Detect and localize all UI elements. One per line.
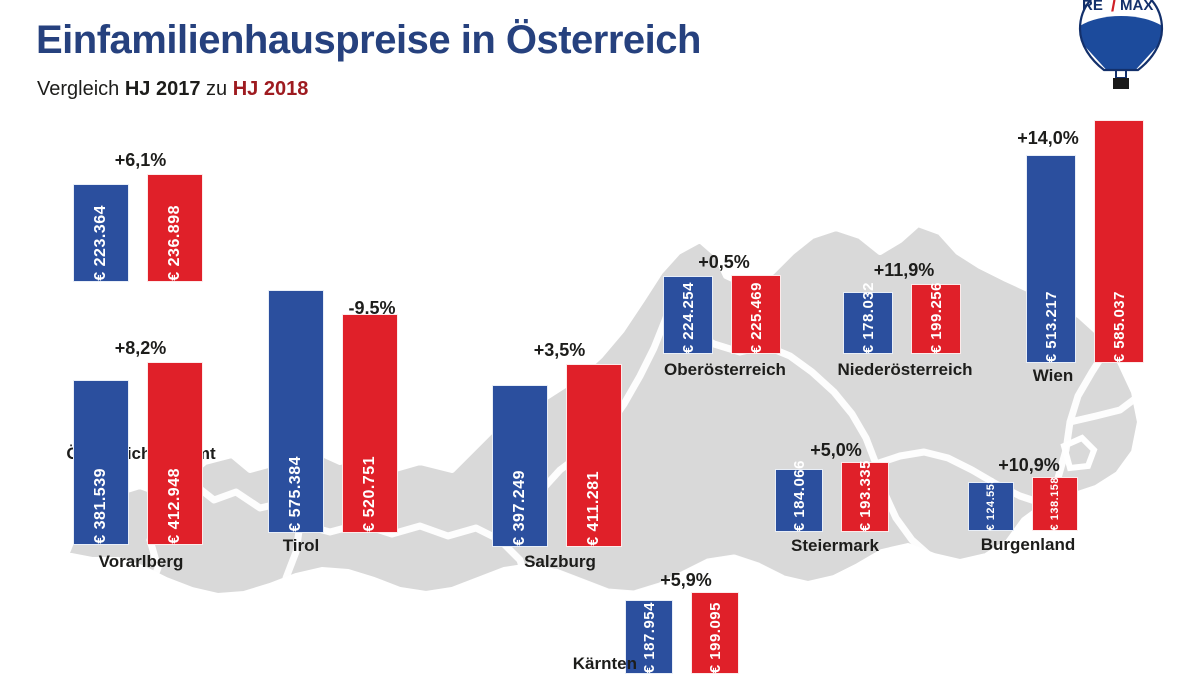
logo-text-slash: / xyxy=(1111,0,1117,16)
bar-2017-tirol[interactable]: € 575.384 xyxy=(268,290,324,533)
subtitle-lead: Vergleich xyxy=(37,78,125,100)
bar-value-2018-steiermark: € 193.335 xyxy=(858,453,873,531)
bar-value-2017-salzburg: € 397.249 xyxy=(512,463,528,546)
bar-2017-vorarlberg[interactable]: € 381.539 xyxy=(73,380,129,545)
bar-value-2017-wien: € 513.217 xyxy=(1044,284,1059,362)
bar-2018-niederoesterreich[interactable]: € 199.256 xyxy=(911,284,961,354)
bar-value-2017-niederoesterreich: € 178.032 xyxy=(861,275,876,353)
group-label-wien: Wien xyxy=(1018,366,1088,386)
bar-value-2018-wien: € 585.037 xyxy=(1112,284,1127,362)
bar-group-oesterreich-gesamt[interactable]: +6,1% € 223.364 € 236.898 Österreich ges… xyxy=(73,150,208,282)
bar-2018-tirol[interactable]: € 520.751 xyxy=(342,314,398,533)
bar-2017-steiermark[interactable]: € 184.066 xyxy=(775,469,823,532)
change-pct-salzburg: +3,5% xyxy=(492,340,627,361)
group-label-steiermark: Steiermark xyxy=(765,536,905,556)
bar-value-2017-steiermark: € 184.066 xyxy=(792,453,807,531)
bar-2017-wien[interactable]: € 513.217 xyxy=(1026,155,1076,363)
bar-value-2018-burgenland: € 138.158 xyxy=(1050,472,1061,530)
logo-text-re: RE xyxy=(1082,0,1103,14)
bar-value-2017-burgenland: € 124.558 xyxy=(986,472,997,530)
change-pct-oberoesterreich: +0,5% xyxy=(663,252,785,273)
group-label-vorarlberg: Vorarlberg xyxy=(55,552,227,572)
bar-2017-oberoesterreich[interactable]: € 224.254 xyxy=(663,276,713,354)
bar-group-vorarlberg[interactable]: +8,2% € 381.539 € 412.948 Vorarlberg xyxy=(73,338,208,545)
bar-2018-oesterreich-gesamt[interactable]: € 236.898 xyxy=(147,174,203,282)
bar-2018-steiermark[interactable]: € 193.335 xyxy=(841,462,889,532)
bar-value-2017-vorarlberg: € 381.539 xyxy=(93,461,109,544)
bar-value-2018-tirol: € 520.751 xyxy=(362,449,378,532)
bar-2018-kaernten[interactable]: € 199.095 xyxy=(691,592,739,674)
bar-value-2018-niederoesterreich: € 199.256 xyxy=(929,275,944,353)
group-label-kaernten: Kärnten xyxy=(527,654,637,674)
bar-value-2017-kaernten: € 187.954 xyxy=(642,595,657,673)
change-pct-oesterreich-gesamt: +6,1% xyxy=(73,150,208,171)
bar-2018-burgenland[interactable]: € 138.158 xyxy=(1032,477,1078,531)
group-label-salzburg: Salzburg xyxy=(484,552,636,572)
group-label-tirol: Tirol xyxy=(266,536,336,556)
change-pct-vorarlberg: +8,2% xyxy=(73,338,208,359)
bar-value-2018-vorarlberg: € 412.948 xyxy=(167,461,183,544)
bar-group-burgenland[interactable]: +10,9% € 124.558 € 138.158 Burgenland xyxy=(968,455,1090,531)
bar-group-wien[interactable]: +14,0% € 513.217 € 585.037 Wien xyxy=(1026,120,1148,363)
austria-map xyxy=(0,0,1200,674)
subtitle-mid: zu xyxy=(200,78,232,100)
bar-group-niederoesterreich[interactable]: +11,9% € 178.032 € 199.256 Niederösterre… xyxy=(843,260,965,354)
group-label-burgenland: Burgenland xyxy=(960,535,1096,555)
group-label-oberoesterreich: Oberösterreich xyxy=(649,360,801,380)
bar-2017-niederoesterreich[interactable]: € 178.032 xyxy=(843,292,893,354)
bar-group-tirol[interactable]: -9,5% € 575.384 € 520.751 Tirol xyxy=(268,290,403,533)
change-pct-kaernten: +5,9% xyxy=(625,570,747,591)
bar-2018-vorarlberg[interactable]: € 412.948 xyxy=(147,362,203,545)
infographic-canvas: Einfamilienhauspreise in Österreich Verg… xyxy=(0,0,1200,674)
bar-value-2017-oberoesterreich: € 224.254 xyxy=(681,275,696,353)
group-label-niederoesterreich: Niederösterreich xyxy=(821,360,989,380)
page-title: Einfamilienhauspreise in Österreich xyxy=(36,18,701,63)
legend-hj2017: HJ 2017 xyxy=(125,78,201,100)
bar-value-2017-oesterreich-gesamt: € 223.364 xyxy=(93,198,109,281)
bar-group-oberoesterreich[interactable]: +0,5% € 224.254 € 225.469 Oberösterreich xyxy=(663,252,785,354)
bar-2017-oesterreich-gesamt[interactable]: € 223.364 xyxy=(73,184,129,282)
bar-value-2018-oberoesterreich: € 225.469 xyxy=(749,275,764,353)
bar-group-salzburg[interactable]: +3,5% € 397.249 € 411.281 Salzburg xyxy=(492,340,627,547)
remax-balloon-logo[interactable]: RE / MAX xyxy=(1058,0,1184,112)
logo-text-max: MAX xyxy=(1120,0,1153,14)
bar-group-kaernten[interactable]: +5,9% € 187.954 € 199.095 Kärnten xyxy=(625,570,747,674)
subtitle: Vergleich HJ 2017 zu HJ 2018 xyxy=(37,78,308,101)
bar-value-2017-tirol: € 575.384 xyxy=(288,449,304,532)
bar-value-2018-kaernten: € 199.095 xyxy=(708,595,723,673)
bar-2018-salzburg[interactable]: € 411.281 xyxy=(566,364,622,547)
bar-value-2018-oesterreich-gesamt: € 236.898 xyxy=(167,198,183,281)
bar-2018-wien[interactable]: € 585.037 xyxy=(1094,120,1144,363)
bar-2017-burgenland[interactable]: € 124.558 xyxy=(968,482,1014,531)
bar-value-2018-salzburg: € 411.281 xyxy=(586,464,602,546)
legend-hj2018: HJ 2018 xyxy=(233,78,309,100)
bar-group-steiermark[interactable]: +5,0% € 184.066 € 193.335 Steiermark xyxy=(775,440,897,532)
bar-2017-salzburg[interactable]: € 397.249 xyxy=(492,385,548,547)
bar-2018-oberoesterreich[interactable]: € 225.469 xyxy=(731,275,781,354)
